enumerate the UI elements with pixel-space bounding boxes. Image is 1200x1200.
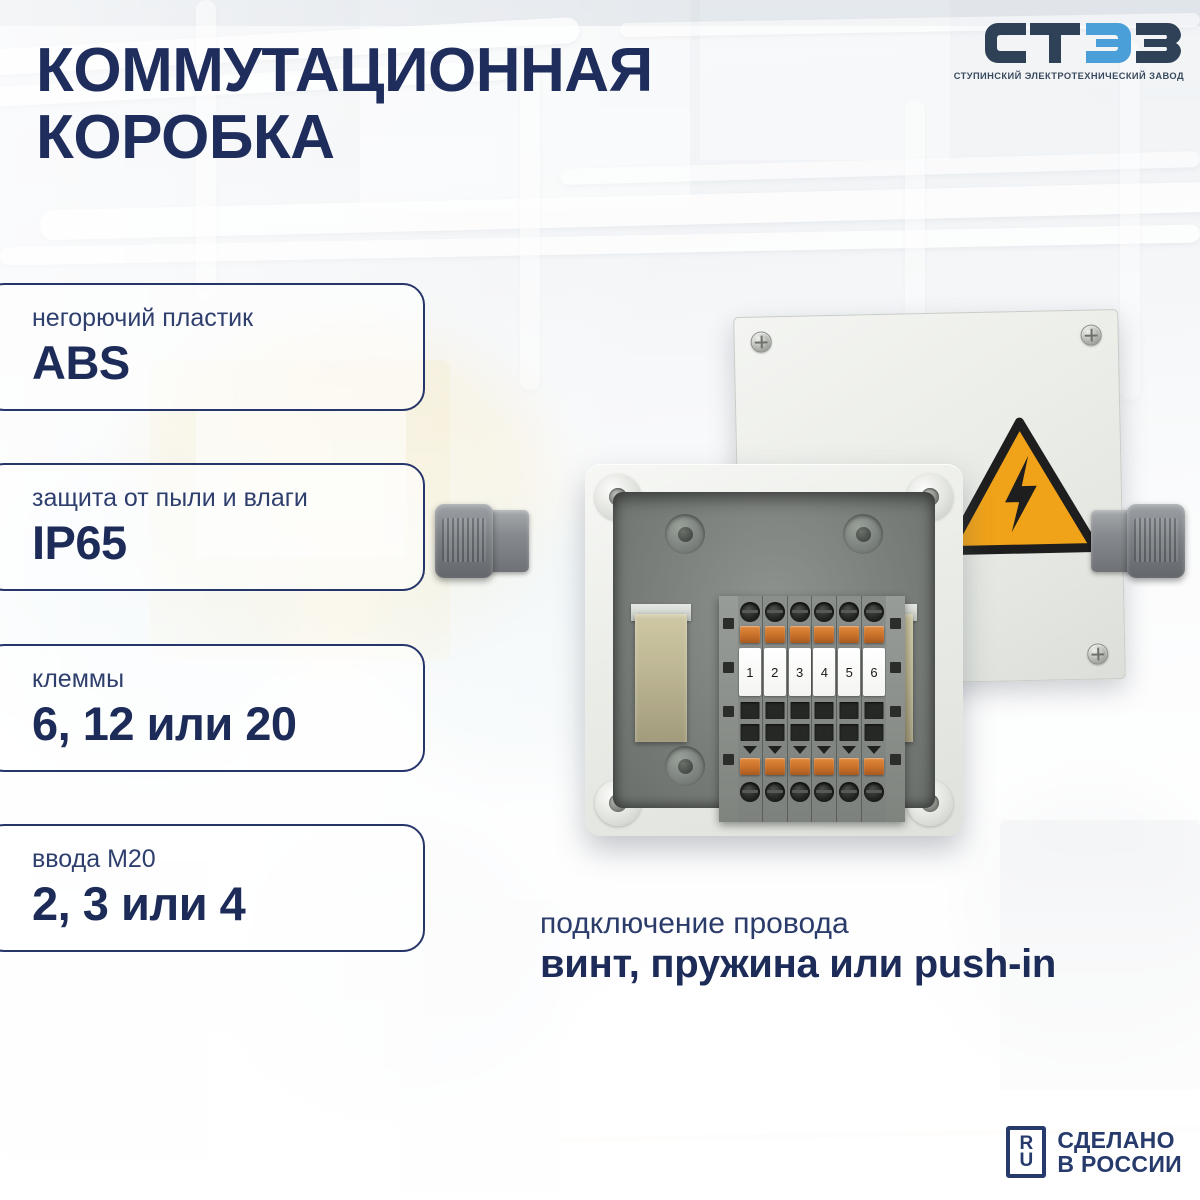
made-in-russia-text: СДЕЛАНО В РОССИИ: [1057, 1128, 1182, 1177]
wire-port-bottom: [814, 782, 834, 802]
endplate-slot: [890, 662, 901, 673]
push-in-lever-top: [864, 626, 884, 643]
made-in-russia-badge: R U СДЕЛАНО В РОССИИ: [1006, 1126, 1182, 1178]
push-in-lever-bottom: [839, 758, 859, 775]
terminal-marker: 2: [764, 648, 786, 696]
logo-letters-icon: [984, 17, 1184, 69]
wire-port-bottom: [790, 782, 810, 802]
logo-mark: [954, 18, 1184, 68]
gland-cap: [435, 504, 493, 578]
endplate-slot: [890, 706, 901, 717]
push-in-lever-top: [790, 626, 810, 643]
feature-card-material: негорючий пластик ABS: [0, 283, 425, 411]
ru-code-bottom: U: [1020, 1152, 1034, 1169]
feature-value: IP65: [32, 518, 423, 568]
terminal-clamp: [740, 724, 759, 741]
endplate-slot: [723, 754, 734, 765]
push-in-lever-top: [765, 626, 785, 643]
caption-value: винт, пружина или push-in: [540, 941, 1056, 988]
terminal-marker: 1: [739, 648, 761, 696]
page-title-line-2: КОРОБКА: [36, 105, 653, 172]
push-in-lever-bottom: [740, 758, 760, 775]
feature-card-terminals: клеммы 6, 12 или 20: [0, 644, 425, 772]
feature-card-entries: ввода M20 2, 3 или 4: [0, 824, 425, 952]
terminal-clamp: [865, 724, 884, 741]
terminal-marker-arrow: [768, 746, 782, 754]
terminal-clamp: [790, 724, 809, 741]
terminal-pole: 3: [788, 596, 813, 822]
push-in-lever-bottom: [814, 758, 834, 775]
wire-port-top: [864, 602, 884, 622]
terminal-marker: 4: [813, 648, 835, 696]
enclosure-cavity: 1 2: [613, 492, 935, 808]
wire-port-bottom: [765, 782, 785, 802]
terminal-clamp: [840, 724, 859, 741]
logo-tagline: ступинский электротехнический завод: [954, 71, 1184, 81]
push-in-lever-top: [740, 626, 760, 643]
terminal-endplate-left: [719, 596, 738, 822]
lid-screw-icon: [1087, 643, 1108, 664]
terminal-clamp: [865, 702, 884, 719]
endplate-slot: [723, 662, 734, 673]
wire-port-top: [740, 602, 760, 622]
push-in-lever-top: [839, 626, 859, 643]
terminal-marker-arrow: [817, 746, 831, 754]
terminal-marker-arrow: [793, 746, 807, 754]
terminal-endplate-right: [886, 596, 905, 822]
wire-port-top: [790, 602, 810, 622]
terminal-pole: 1: [738, 596, 763, 822]
wire-port-bottom: [740, 782, 760, 802]
endplate-slot: [723, 618, 734, 629]
push-in-lever-bottom: [864, 758, 884, 775]
terminal-clamp: [790, 702, 809, 719]
terminal-clamp: [840, 702, 859, 719]
cavity-mount-boss: [665, 514, 705, 554]
terminal-marker-arrow: [743, 746, 757, 754]
wire-port-top: [765, 602, 785, 622]
wire-port-top: [814, 602, 834, 622]
wire-port-bottom: [864, 782, 884, 802]
terminal-marker: 6: [863, 648, 885, 696]
terminal-clamp: [765, 724, 784, 741]
product-photo-junction-box: 1 2: [440, 288, 1180, 928]
terminal-clamp: [815, 702, 834, 719]
feature-label: клеммы: [32, 666, 423, 694]
endplate-slot: [723, 706, 734, 717]
endplate-slot: [890, 618, 901, 629]
wire-port-top: [839, 602, 859, 622]
terminal-clamp: [765, 702, 784, 719]
page-title: КОММУТАЦИОННАЯ КОРОБКА: [36, 38, 653, 172]
terminal-marker: 5: [838, 648, 860, 696]
electrical-hazard-warning-icon: [941, 414, 1100, 557]
terminal-pole: 6: [862, 596, 886, 822]
push-in-lever-top: [814, 626, 834, 643]
terminal-marker-arrow: [867, 746, 881, 754]
lid-screw-icon: [1080, 324, 1101, 345]
endplate-slot: [890, 754, 901, 765]
cavity-mount-boss: [665, 746, 705, 786]
terminal-pole: 4: [812, 596, 837, 822]
connection-caption: подключение провода винт, пружина или pu…: [540, 906, 1056, 989]
terminal-marker-arrow: [842, 746, 856, 754]
caption-label: подключение провода: [540, 906, 1056, 941]
terminal-marker: 3: [789, 648, 811, 696]
terminal-clamp: [740, 702, 759, 719]
feature-label: защита от пыли и влаги: [32, 485, 423, 513]
feature-value: 2, 3 или 4: [32, 879, 423, 929]
push-in-lever-bottom: [765, 758, 785, 775]
terminal-pole: 2: [763, 596, 788, 822]
lid-screw-icon: [750, 331, 771, 352]
page-title-line-1: КОММУТАЦИОННАЯ: [36, 38, 653, 105]
terminal-pole: 5: [837, 596, 862, 822]
feature-label: негорючий пластик: [32, 305, 423, 333]
cavity-mount-boss: [843, 514, 883, 554]
terminal-poles: 1 2: [738, 596, 886, 822]
wire-port-bottom: [839, 782, 859, 802]
company-logo: ступинский электротехнический завод: [954, 18, 1184, 81]
terminal-clamp: [815, 724, 834, 741]
feature-value: 6, 12 или 20: [32, 699, 423, 749]
push-in-lever-bottom: [790, 758, 810, 775]
junction-box-enclosure: 1 2: [585, 464, 963, 836]
terminal-block-strip: 1 2: [719, 596, 905, 822]
made-line-1: СДЕЛАНО: [1057, 1128, 1182, 1152]
gland-cap: [1127, 504, 1185, 578]
feature-card-protection: защита от пыли и влаги IP65: [0, 463, 425, 591]
made-line-2: В РОССИИ: [1057, 1152, 1182, 1176]
feature-label: ввода M20: [32, 846, 423, 874]
din-rail-block-left: [635, 614, 687, 742]
ru-code-box: R U: [1006, 1126, 1046, 1178]
feature-value: ABS: [32, 338, 423, 388]
